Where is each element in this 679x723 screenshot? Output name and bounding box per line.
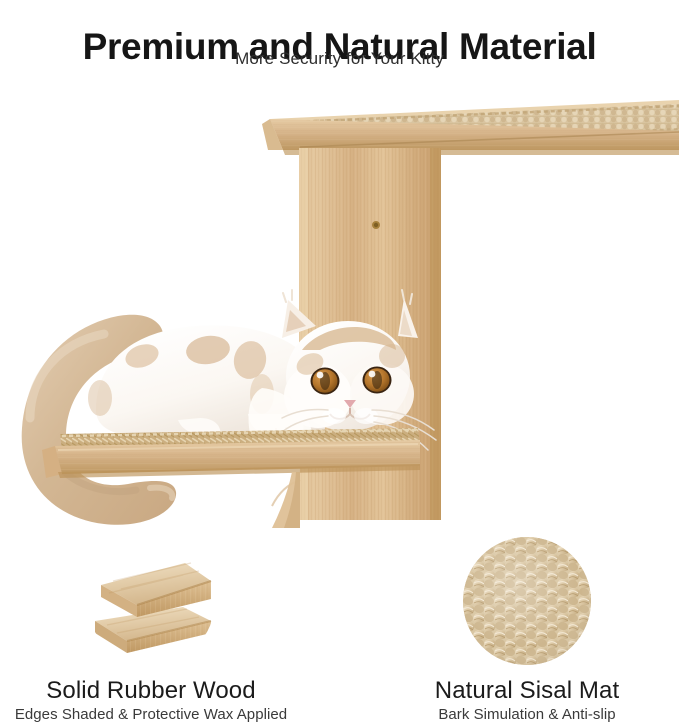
feature-natural-sisal-mat: Natural Sisal Mat Bark Simulation & Anti… xyxy=(362,528,679,723)
swatch-stacked-wood-boards xyxy=(87,537,215,665)
feature-title: Natural Sisal Mat xyxy=(362,677,679,705)
feature-title: Solid Rubber Wood xyxy=(0,677,316,705)
cat-eye-left xyxy=(311,368,340,395)
hero-product-photo xyxy=(0,88,679,528)
product-feature-image: Premium and Natural Material More Securi… xyxy=(0,0,679,718)
cat-eye-right xyxy=(363,367,392,394)
feature-row: Solid Rubber Wood Edges Shaded & Protect… xyxy=(0,528,679,718)
page-subheadline: More Security for Your Kitty xyxy=(0,49,679,69)
feature-solid-rubber-wood: Solid Rubber Wood Edges Shaded & Protect… xyxy=(0,528,316,723)
feature-subtitle: Edges Shaded & Protective Wax Applied xyxy=(0,706,316,723)
lower-shelf xyxy=(42,428,420,478)
swatch-woven-sisal-texture xyxy=(463,537,591,665)
feature-subtitle: Bark Simulation & Anti-slip xyxy=(362,706,679,723)
